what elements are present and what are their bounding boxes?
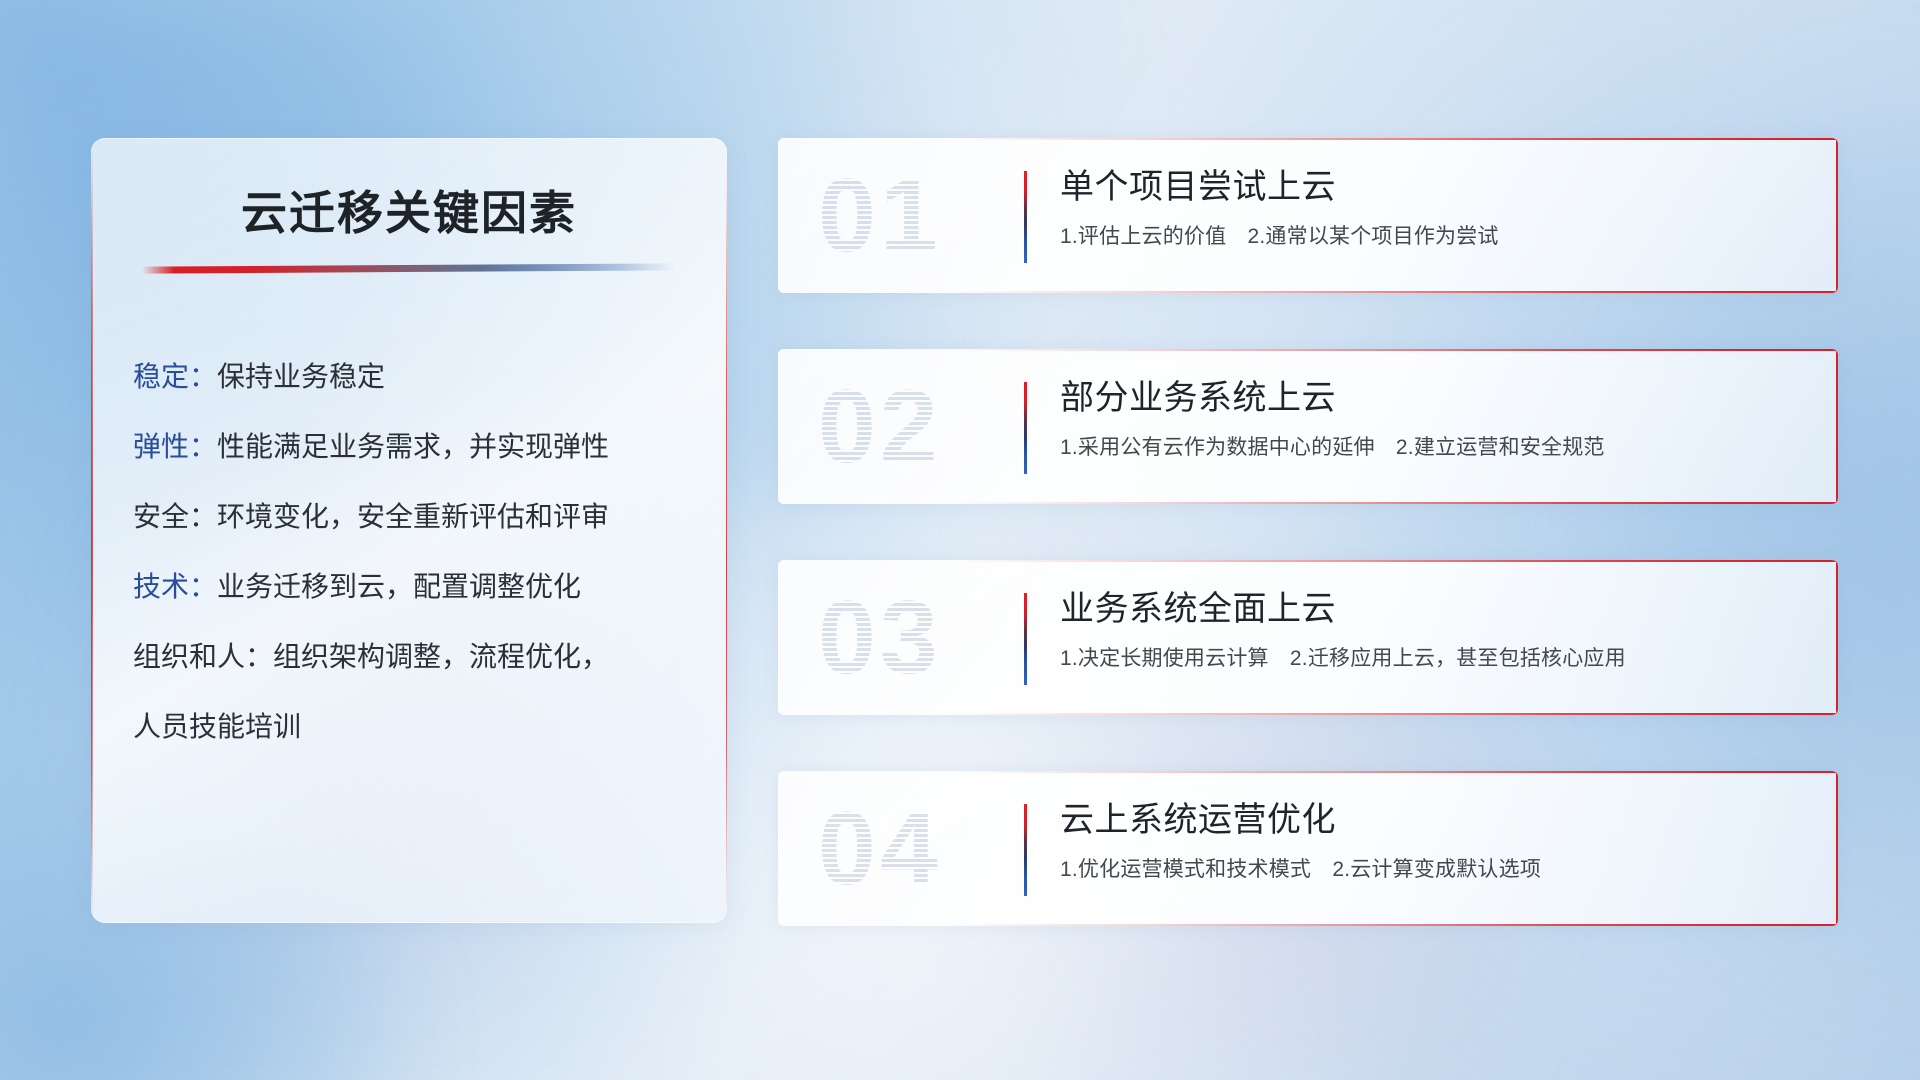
card-title: 部分业务系统上云 (1060, 377, 1812, 420)
card-border-right (1836, 560, 1839, 715)
card-number-backdrop: 04 (818, 789, 1013, 909)
panel-left-accent-bar (91, 138, 93, 923)
card-body: 部分业务系统上云 1.采用公有云作为数据中心的延伸 2.建立运营和安全规范 (1060, 377, 1812, 461)
card-body: 云上系统运营优化 1.优化运营模式和技术模式 2.云计算变成默认选项 (1060, 799, 1812, 883)
page-title: 云迁移关键因素 (91, 186, 727, 240)
card-title: 业务系统全面上云 (1060, 588, 1812, 631)
card-divider-bar (1024, 382, 1027, 474)
factor-text: 性能满足业务需求，并实现弹性 (217, 431, 609, 462)
card-border-top (778, 349, 1838, 351)
card-subtitle: 1.优化运营模式和技术模式 2.云计算变成默认选项 (1060, 856, 1812, 883)
stage-card-list: 01 01 单个项目尝试上云 1.评估上云的价值 2.通常以某个项目作为尝试 0… (778, 138, 1838, 926)
factor-label: 技术： (133, 571, 217, 602)
card-subtitle: 1.采用公有云作为数据中心的延伸 2.建立运营和安全规范 (1060, 434, 1812, 461)
factor-text: 环境变化，安全重新评估和评审 (217, 501, 609, 532)
card-border-bottom (778, 924, 1838, 926)
card-border-top (778, 560, 1838, 562)
factor-text: 组织架构调整，流程优化， (273, 641, 609, 672)
factor-item: 组织和人：组织架构调整，流程优化， (133, 643, 699, 671)
factor-item: 稳定：保持业务稳定 (133, 363, 699, 391)
factor-continuation: 人员技能培训 (133, 713, 699, 741)
card-border-bottom (778, 502, 1838, 504)
factor-label: 稳定： (133, 361, 217, 392)
card-title: 云上系统运营优化 (1060, 799, 1812, 842)
card-body: 单个项目尝试上云 1.评估上云的价值 2.通常以某个项目作为尝试 (1060, 166, 1812, 250)
factor-text: 业务迁移到云，配置调整优化 (217, 571, 581, 602)
card-border-top (778, 138, 1838, 140)
stage-card[interactable]: 04 04 云上系统运营优化 1.优化运营模式和技术模式 2.云计算变成默认选项 (778, 771, 1838, 926)
title-underline-gradient (142, 263, 676, 273)
factor-item: 技术：业务迁移到云，配置调整优化 (133, 573, 699, 601)
card-border-right (1836, 771, 1839, 926)
card-border-right (1836, 138, 1839, 293)
card-number: 04 (818, 789, 1013, 909)
key-factors-panel: 云迁移关键因素 稳定：保持业务稳定 弹性：性能满足业务需求，并实现弹性 安全：环… (91, 138, 727, 923)
card-number-backdrop: 02 (818, 367, 1013, 487)
slide-stage: 云迁移关键因素 稳定：保持业务稳定 弹性：性能满足业务需求，并实现弹性 安全：环… (0, 0, 1920, 1080)
factor-label: 组织和人： (133, 641, 273, 672)
factor-label: 安全： (133, 501, 217, 532)
factor-list: 稳定：保持业务稳定 弹性：性能满足业务需求，并实现弹性 安全：环境变化，安全重新… (133, 363, 699, 741)
card-body: 业务系统全面上云 1.决定长期使用云计算 2.迁移应用上云，甚至包括核心应用 (1060, 588, 1812, 672)
card-divider-bar (1024, 593, 1027, 685)
factor-label: 弹性： (133, 431, 217, 462)
card-subtitle: 1.评估上云的价值 2.通常以某个项目作为尝试 (1060, 223, 1812, 250)
card-number: 01 (818, 156, 1013, 276)
card-subtitle: 1.决定长期使用云计算 2.迁移应用上云，甚至包括核心应用 (1060, 645, 1812, 672)
card-number-backdrop: 03 (818, 578, 1013, 698)
factor-item: 安全：环境变化，安全重新评估和评审 (133, 503, 699, 531)
card-title: 单个项目尝试上云 (1060, 166, 1812, 209)
card-number: 03 (818, 578, 1013, 698)
card-divider-bar (1024, 804, 1027, 896)
card-border-right (1836, 349, 1839, 504)
factor-text: 保持业务稳定 (217, 361, 385, 392)
card-border-bottom (778, 291, 1838, 293)
card-number-backdrop: 01 (818, 156, 1013, 276)
card-border-bottom (778, 713, 1838, 715)
card-number: 02 (818, 367, 1013, 487)
stage-card[interactable]: 03 03 业务系统全面上云 1.决定长期使用云计算 2.迁移应用上云，甚至包括… (778, 560, 1838, 715)
card-divider-bar (1024, 171, 1027, 263)
stage-card[interactable]: 01 01 单个项目尝试上云 1.评估上云的价值 2.通常以某个项目作为尝试 (778, 138, 1838, 293)
card-border-top (778, 771, 1838, 773)
stage-card[interactable]: 02 02 部分业务系统上云 1.采用公有云作为数据中心的延伸 2.建立运营和安… (778, 349, 1838, 504)
factor-item: 弹性：性能满足业务需求，并实现弹性 (133, 433, 699, 461)
